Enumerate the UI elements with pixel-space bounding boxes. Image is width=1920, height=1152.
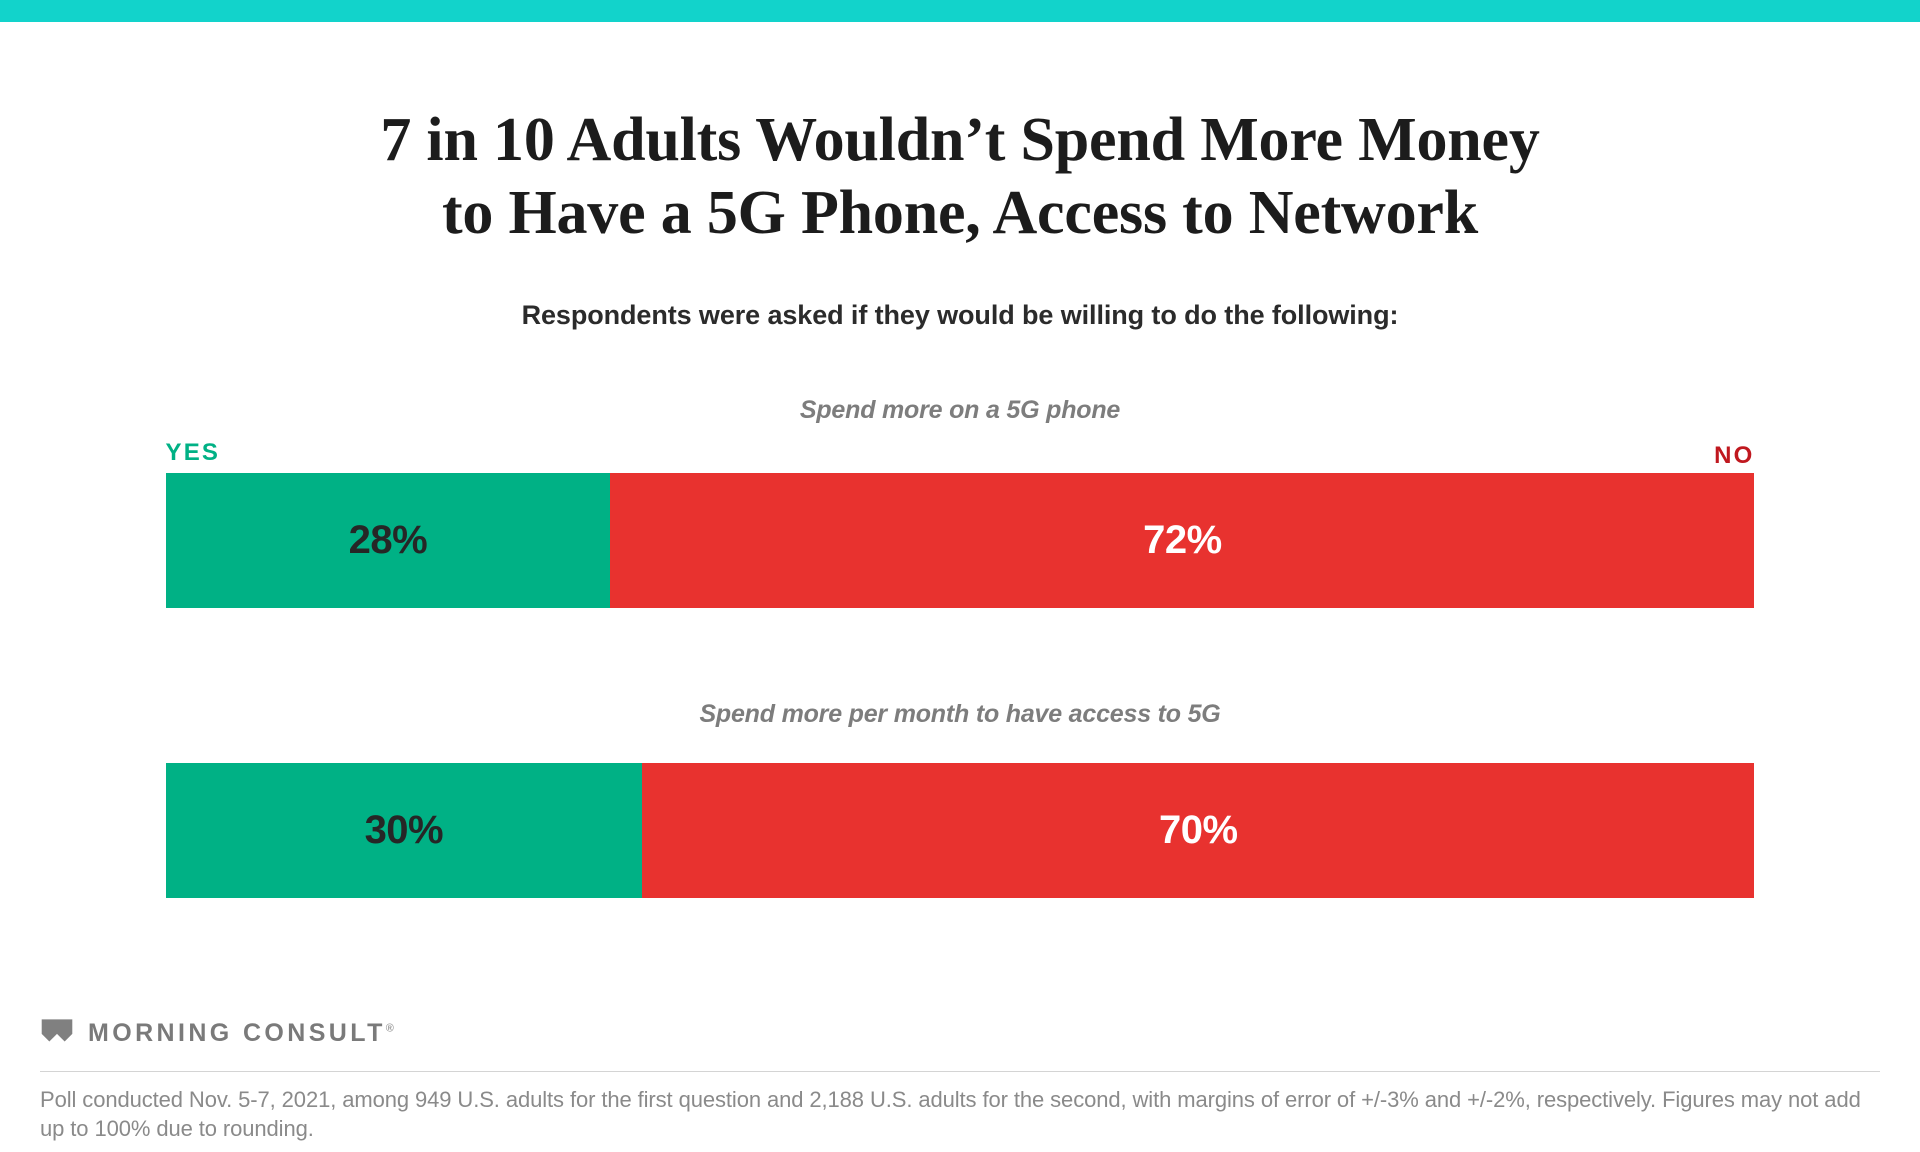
chart-block-spend-more-per-month: Spend more per month to have access to 5…	[0, 700, 1920, 898]
brand-name: MORNING CONSULT®	[88, 1019, 394, 1048]
chart-caption: Spend more per month to have access to 5…	[0, 700, 1920, 729]
page-title-line-1: 7 in 10 Adults Wouldn’t Spend More Money	[0, 104, 1920, 177]
bar-segment-yes: 28%	[166, 473, 611, 608]
page-title: 7 in 10 Adults Wouldn’t Spend More Money…	[0, 104, 1920, 250]
top-accent-bar	[0, 0, 1920, 22]
brand-logo: MORNING CONSULT®	[40, 1016, 394, 1050]
page-subtitle: Respondents were asked if they would be …	[0, 300, 1920, 331]
chart-legend: YES NO	[166, 439, 1755, 473]
stacked-bar: 30% 70%	[166, 763, 1755, 898]
stacked-bar: 28% 72%	[166, 473, 1755, 608]
legend-label-no: NO	[1714, 442, 1754, 470]
footer-divider	[40, 1071, 1880, 1072]
chevron-m-icon	[40, 1016, 74, 1050]
brand-name-text: MORNING CONSULT	[88, 1019, 386, 1047]
page-title-line-2: to Have a 5G Phone, Access to Network	[0, 177, 1920, 250]
bar-segment-no: 72%	[610, 473, 1754, 608]
spacer	[0, 729, 1920, 763]
bar-segment-yes: 30%	[166, 763, 643, 898]
legend-label-yes: YES	[166, 439, 221, 467]
bar-segment-no: 70%	[642, 763, 1754, 898]
footnote: Poll conducted Nov. 5-7, 2021, among 949…	[40, 1085, 1888, 1143]
chart-block-spend-more-on-phone: Spend more on a 5G phone YES NO 28% 72%	[0, 396, 1920, 608]
registered-trademark-icon: ®	[386, 1022, 394, 1034]
chart-caption: Spend more on a 5G phone	[0, 396, 1920, 425]
